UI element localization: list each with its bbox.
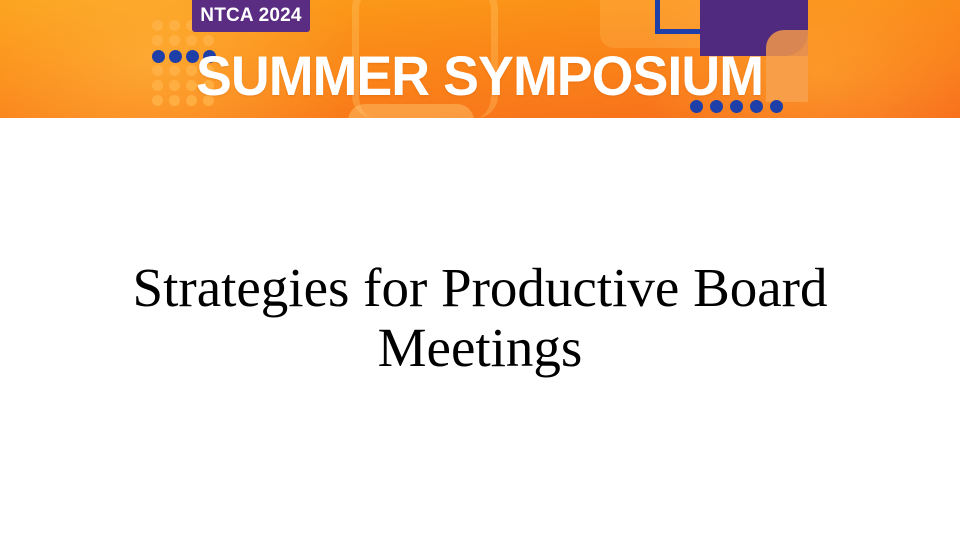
dot — [169, 35, 180, 46]
slide-title: Strategies for Productive Board Meetings — [96, 258, 864, 378]
summer-symposium-wordmark: SUMMER SYMPOSIUM — [196, 48, 772, 104]
dot — [152, 35, 163, 46]
dot — [152, 20, 163, 31]
dot — [169, 95, 180, 106]
summer-symposium-banner: NTCA 2024 SUMMER SYMPOSIUM — [0, 0, 960, 118]
ntca-year-badge-label: NTCA 2024 — [200, 3, 301, 25]
dot — [169, 65, 180, 76]
dot — [169, 80, 180, 91]
slide-body: Strategies for Productive Board Meetings — [0, 118, 960, 540]
dot — [169, 20, 180, 31]
dot-highlight — [169, 50, 182, 63]
dot — [152, 80, 163, 91]
dot — [152, 65, 163, 76]
dot — [152, 95, 163, 106]
dot-highlight — [152, 50, 165, 63]
tan-accent-block-lower — [766, 56, 808, 102]
presentation-slide: NTCA 2024 SUMMER SYMPOSIUM Strategies fo… — [0, 0, 960, 540]
ntca-year-badge: NTCA 2024 — [192, 0, 310, 32]
